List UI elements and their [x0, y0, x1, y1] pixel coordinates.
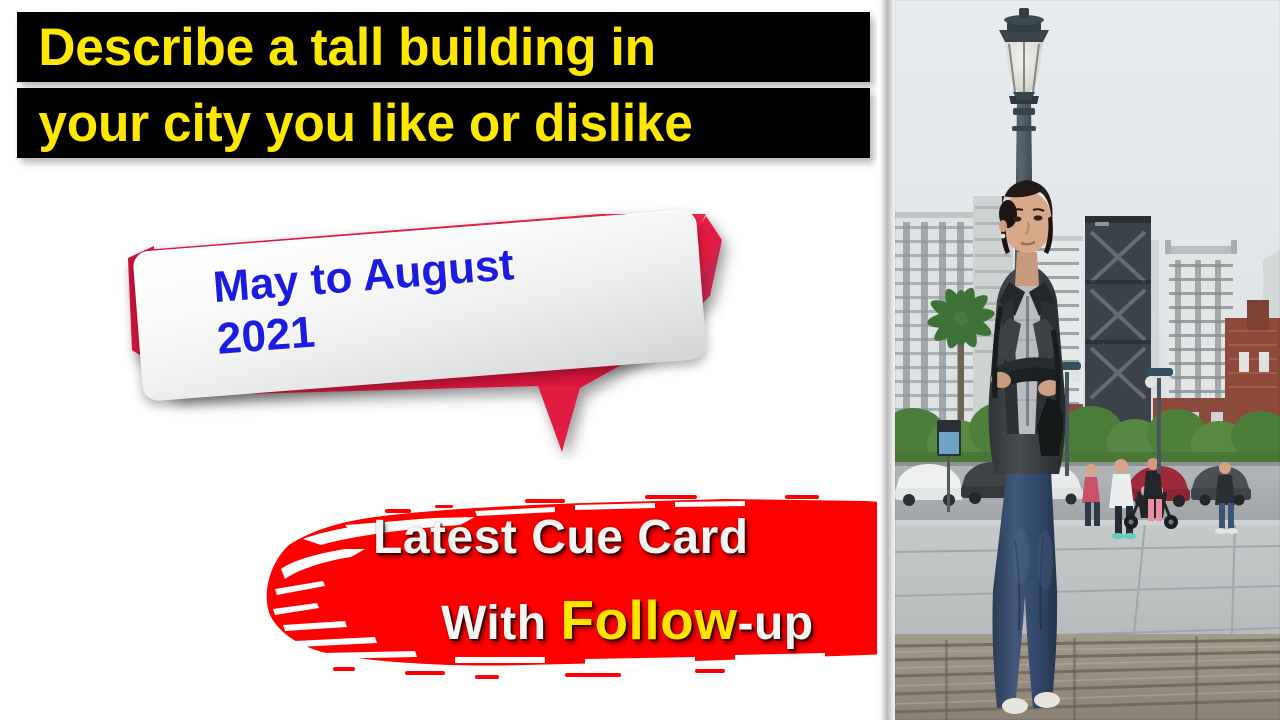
date-banner: May to August 2021	[110, 200, 750, 460]
title-bar-line2: your city you like or dislike	[17, 88, 870, 158]
left-text-panel: Describe a tall building in your city yo…	[0, 0, 880, 720]
title-line1-text: Describe a tall building in	[17, 21, 656, 74]
title-bar-line1: Describe a tall building in	[17, 12, 870, 82]
panel-divider	[877, 0, 897, 720]
hero-photo	[895, 0, 1280, 720]
photo-illustration	[895, 0, 1280, 720]
thumbnail-canvas: Describe a tall building in your city yo…	[0, 0, 1280, 720]
title-line2-text: your city you like or dislike	[17, 97, 693, 150]
